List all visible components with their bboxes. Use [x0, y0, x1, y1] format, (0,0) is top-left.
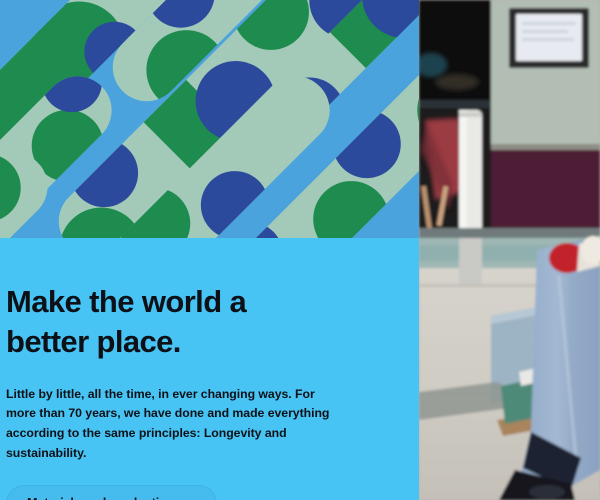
- hero-page: Make the world a better place. Little by…: [0, 0, 600, 500]
- pattern-banner: [0, 0, 419, 238]
- materials-and-production-button[interactable]: Materials and production →: [6, 485, 217, 500]
- hero-text-panel: Make the world a better place. Little by…: [0, 238, 419, 500]
- cta-label: Materials and production: [27, 496, 174, 500]
- abstract-pattern-graphic: [0, 0, 419, 238]
- hero-photo: [419, 0, 600, 500]
- cta-container: Materials and production →: [6, 485, 393, 500]
- hero-description: Little by little, all the time, in ever …: [6, 385, 336, 464]
- street-scene-photo: [419, 0, 600, 500]
- left-column: Make the world a better place. Little by…: [0, 0, 419, 500]
- page-title: Make the world a better place.: [6, 282, 336, 363]
